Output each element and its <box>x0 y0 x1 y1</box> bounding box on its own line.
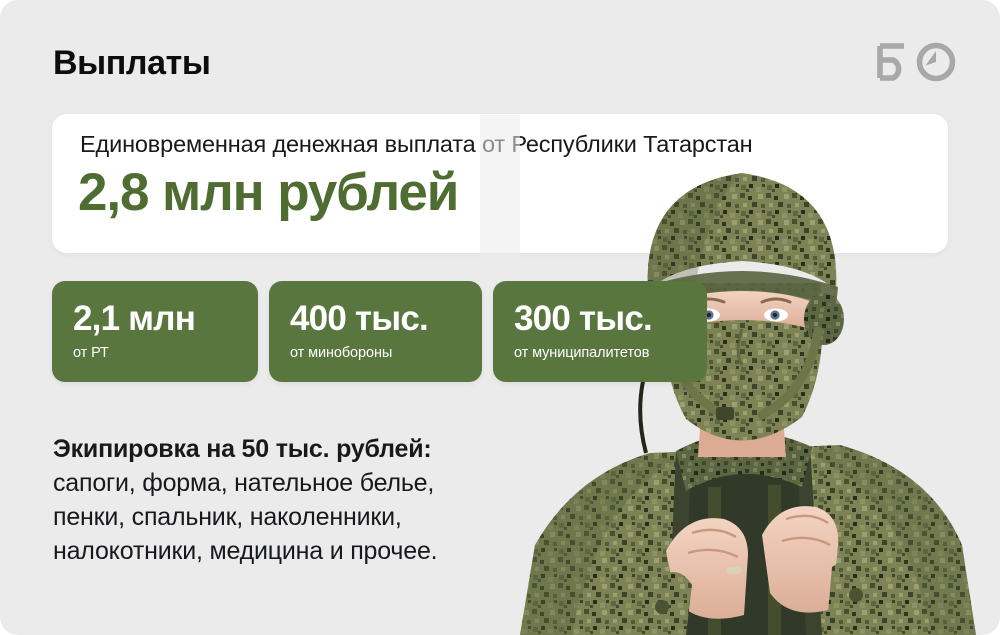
collar-shape <box>676 432 812 491</box>
vest-shape <box>668 447 822 635</box>
infographic-canvas: Выплаты БО Единовременная денежная выпла… <box>0 0 1000 635</box>
equipment-line: сапоги, форма, нательное белье, <box>53 466 437 500</box>
cuff-left <box>640 572 692 635</box>
wedding-ring <box>726 567 742 574</box>
equipment-list: сапоги, форма, нательное белье, пенки, с… <box>53 466 437 568</box>
hero-amount: 2,8 млн рублей <box>78 162 458 223</box>
stat-value: 2,1 млн <box>73 301 237 336</box>
hand-left <box>666 518 748 619</box>
equipment-line: налокотники, медицина и прочее. <box>53 534 437 568</box>
brand-logo: БО <box>874 42 966 82</box>
stat-card-rt: 2,1 млн от РТ <box>52 281 258 382</box>
logo-clock-icon <box>920 46 953 79</box>
stat-value: 300 тыс. <box>514 301 686 336</box>
stat-card-row: 2,1 млн от РТ 400 тыс. от минобороны 300… <box>52 281 707 382</box>
hero-card: Единовременная денежная выплата от Респу… <box>52 114 948 253</box>
logo-letter-be <box>880 46 904 78</box>
stat-label: от минобороны <box>290 345 461 361</box>
equipment-line: пенки, спальник, наколенники, <box>53 500 437 534</box>
hero-caption: Единовременная денежная выплата от Респу… <box>80 131 753 158</box>
stat-label: от РТ <box>73 345 237 361</box>
stat-value: 400 тыс. <box>290 301 461 336</box>
stat-label: от муниципалитетов <box>514 345 686 361</box>
stat-card-minoborony: 400 тыс. от минобороны <box>269 281 482 382</box>
eye-right <box>764 309 788 322</box>
cuff-right <box>826 557 878 635</box>
equipment-title: Экипировка на 50 тыс. рублей: <box>53 432 437 466</box>
equipment-block: Экипировка на 50 тыс. рублей: сапоги, фо… <box>53 432 437 568</box>
jacket-shape <box>520 445 976 635</box>
hand-right <box>762 506 838 612</box>
stat-card-municipalities: 300 тыс. от муниципалитетов <box>493 281 707 382</box>
helmet-pad-right <box>804 293 844 345</box>
page-title: Выплаты <box>53 44 211 83</box>
